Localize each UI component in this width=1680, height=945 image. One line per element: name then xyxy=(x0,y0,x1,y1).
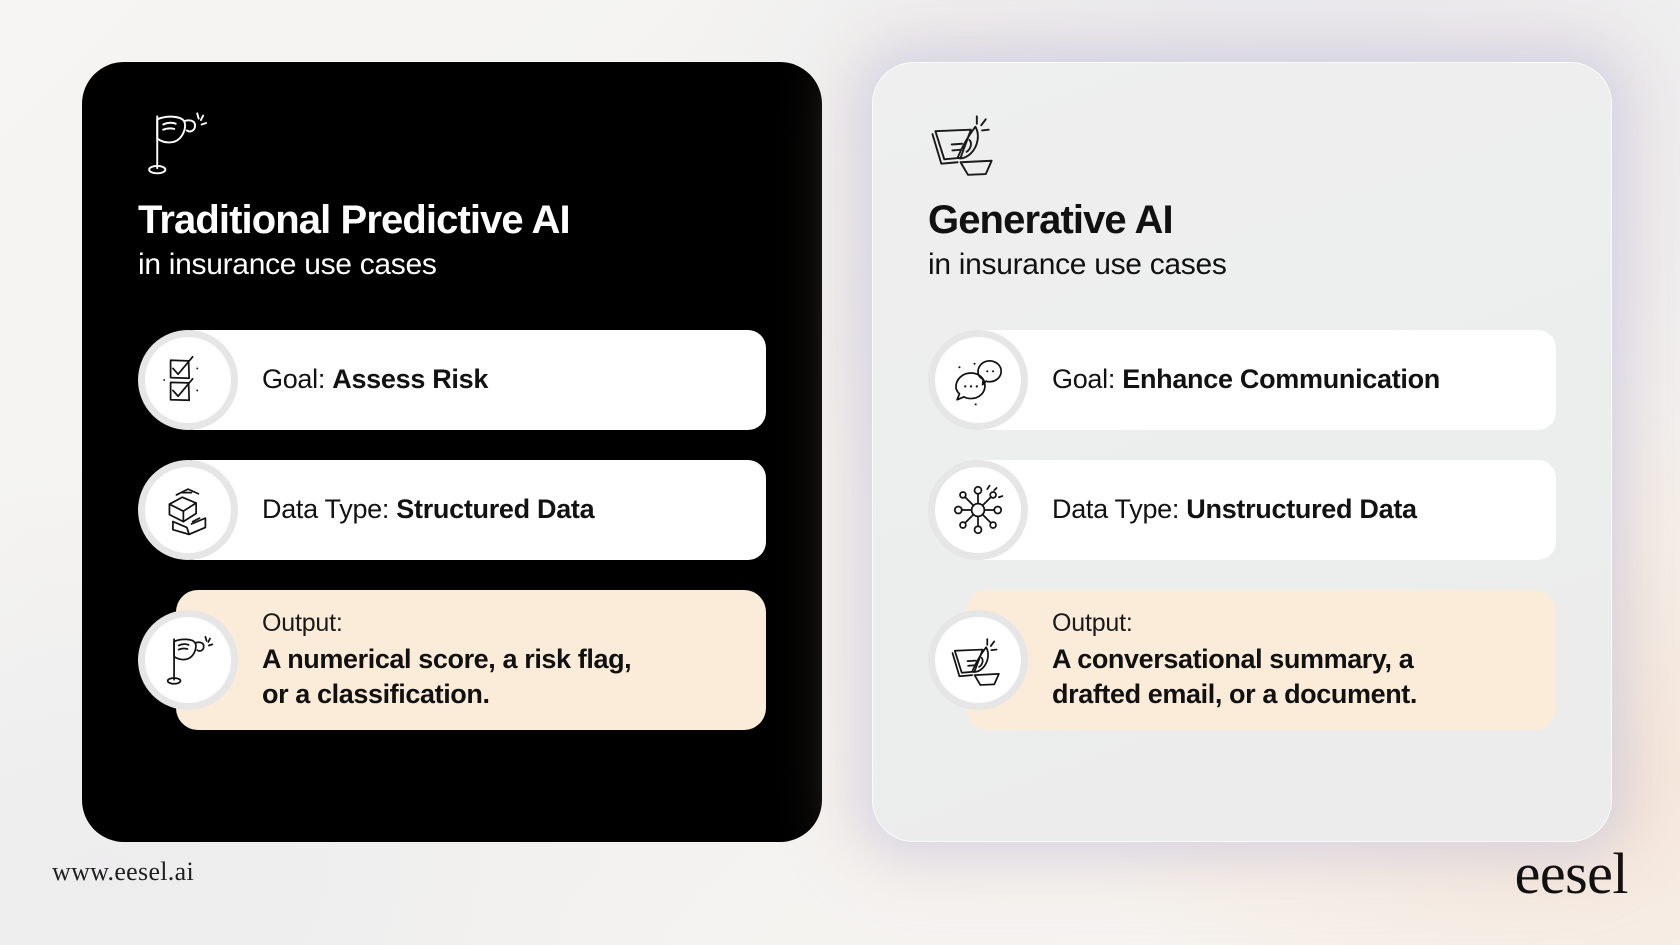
row-bubble: Data Type: Unstructured Data xyxy=(966,460,1556,560)
row-goal: Goal: Assess Risk xyxy=(138,330,766,430)
network-nodes-icon xyxy=(928,460,1028,560)
row-text: Goal: Assess Risk xyxy=(262,364,488,395)
row-data-type: Data Type: Structured Data xyxy=(138,460,766,560)
row-goal: Goal: Enhance Communication xyxy=(928,330,1556,430)
row-bubble: Data Type: Structured Data xyxy=(176,460,766,560)
flag-icon xyxy=(138,610,238,710)
checklist-icon xyxy=(138,330,238,430)
infographic-stage: Traditional Predictive AI in insurance u… xyxy=(0,0,1680,945)
page-title: Traditional Predictive AI xyxy=(138,198,766,242)
row-bubble: Goal: Assess Risk xyxy=(176,330,766,430)
row-text: Data Type: Structured Data xyxy=(262,494,594,525)
row-list: Goal: Enhance Communication xyxy=(928,330,1556,730)
output-value: A numerical score, a risk flag, or a cla… xyxy=(262,642,631,711)
output-value: A conversational summary, a drafted emai… xyxy=(1052,642,1417,711)
flag-icon xyxy=(138,106,212,180)
row-bubble-output: Output: A conversational summary, a draf… xyxy=(966,590,1556,730)
quill-writing-icon xyxy=(928,610,1028,710)
row-output: Output: A conversational summary, a draf… xyxy=(928,590,1556,730)
card-traditional-predictive-ai: Traditional Predictive AI in insurance u… xyxy=(82,62,822,842)
row-output: Output: A numerical score, a risk flag, … xyxy=(138,590,766,730)
page-title: Generative AI xyxy=(928,198,1556,242)
row-data-type: Data Type: Unstructured Data xyxy=(928,460,1556,560)
output-label: Output: xyxy=(1052,608,1133,638)
quill-writing-icon xyxy=(928,106,1002,180)
row-text: Goal: Enhance Communication xyxy=(1052,364,1440,395)
output-label: Output: xyxy=(262,608,343,638)
brand-logo: eesel xyxy=(1515,845,1628,903)
card-generative-ai: Generative AI in insurance use cases Goa… xyxy=(872,62,1612,842)
footer-url: www.eesel.ai xyxy=(52,857,194,887)
row-bubble: Goal: Enhance Communication xyxy=(966,330,1556,430)
file-boxes-icon xyxy=(138,460,238,560)
card-subtitle: in insurance use cases xyxy=(928,246,1556,284)
row-bubble-output: Output: A numerical score, a risk flag, … xyxy=(176,590,766,730)
card-subtitle: in insurance use cases xyxy=(138,246,766,284)
speech-bubbles-icon xyxy=(928,330,1028,430)
row-list: Goal: Assess Risk D xyxy=(138,330,766,730)
row-text: Data Type: Unstructured Data xyxy=(1052,494,1417,525)
